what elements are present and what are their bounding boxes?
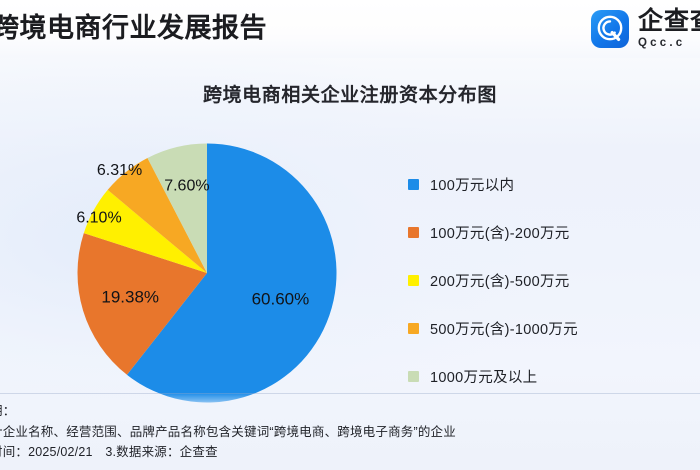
legend-item-label: 200万元(含)-500万元 xyxy=(430,270,570,291)
footer-note-1: 计企业名称、经营范围、品牌产品名称包含关键词“跨境电商、跨境电子商务”的企业 xyxy=(0,422,700,442)
legend-color-swatch xyxy=(408,275,419,286)
pie-slice-label: 6.31% xyxy=(97,162,142,179)
brand-name-cn: 企查查 xyxy=(638,8,700,34)
pie-slice-label: 19.38% xyxy=(101,287,159,306)
qcc-logo-icon xyxy=(591,10,629,48)
legend-color-swatch xyxy=(408,227,419,238)
footer-note-2: 时间：2025/02/21 3.数据来源：企查查 xyxy=(0,442,700,462)
pie-chart: 60.60%19.38%6.10%6.31%7.60% xyxy=(76,142,338,404)
legend-item-label: 100万元(含)-200万元 xyxy=(430,222,570,243)
legend-item[interactable]: 100万元(含)-200万元 xyxy=(408,208,678,256)
footer-note-heading: 明： xyxy=(0,401,700,421)
header-bar: 跨境电商行业发展报告 企查查 Qcc.c xyxy=(0,0,700,58)
legend-color-swatch xyxy=(408,371,419,382)
legend-color-swatch xyxy=(408,323,419,334)
legend-item-label: 1000万元及以上 xyxy=(430,366,537,387)
chart-legend: 100万元以内100万元(含)-200万元200万元(含)-500万元500万元… xyxy=(408,160,678,400)
legend-item-label: 100万元以内 xyxy=(430,174,514,195)
page-title: 跨境电商行业发展报告 xyxy=(0,8,267,48)
brand-name-en: Qcc.c xyxy=(638,37,700,49)
brand-wordmark: 企查查 Qcc.c xyxy=(638,8,700,49)
legend-color-swatch xyxy=(408,179,419,190)
report-poster: 跨境电商行业发展报告 企查查 Qcc.c 跨境电商相关企业注册资本分布图 60.… xyxy=(0,0,700,470)
legend-item[interactable]: 200万元(含)-500万元 xyxy=(408,256,678,304)
pie-slice-label: 7.60% xyxy=(164,177,209,194)
legend-item[interactable]: 500万元(含)-1000万元 xyxy=(408,304,678,352)
pie-slice-label: 60.60% xyxy=(252,289,310,308)
footer-notes: 明： 计企业名称、经营范围、品牌产品名称包含关键词“跨境电商、跨境电子商务”的企… xyxy=(0,393,700,470)
brand-logo: 企查查 Qcc.c xyxy=(591,8,700,49)
footer-divider xyxy=(0,393,700,394)
legend-item-label: 500万元(含)-1000万元 xyxy=(430,318,578,339)
legend-item[interactable]: 100万元以内 xyxy=(408,160,678,208)
chart-title: 跨境电商相关企业注册资本分布图 xyxy=(0,80,700,107)
pie-slice-label: 6.10% xyxy=(76,210,121,227)
